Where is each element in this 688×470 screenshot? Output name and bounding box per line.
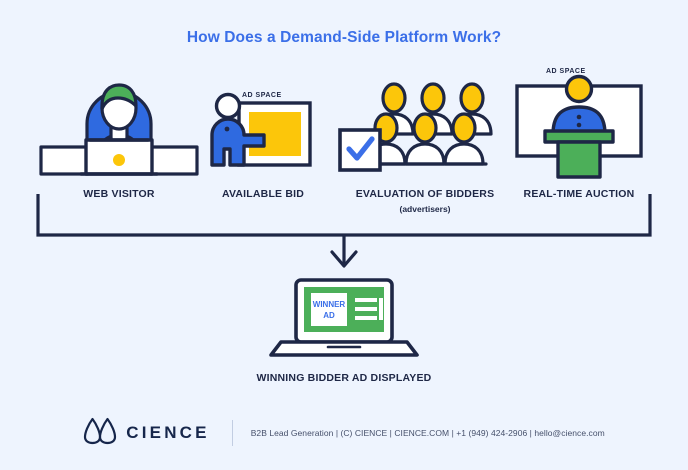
stage-sublabel: (advertisers) — [336, 204, 514, 214]
stage-label: WEB VISITOR — [38, 188, 200, 200]
group-of-bidders-with-checkmark-icon — [336, 62, 514, 180]
auctioneer-at-podium-icon: AD SPACE — [506, 62, 652, 180]
winner-ad-line2: AD — [323, 311, 335, 320]
page-title: How Does a Demand-Side Platform Work? — [0, 29, 688, 47]
cience-logo: CIENCE — [83, 415, 209, 450]
stage-available-bid: AD SPACE AVAILABLE BID — [198, 62, 328, 212]
ad-space-tag: AD SPACE — [242, 92, 282, 99]
winner-ad-line1: WINNER — [313, 300, 346, 309]
stage-label: EVALUATION OF BIDDERS — [336, 188, 514, 200]
stage-evaluation-of-bidders: EVALUATION OF BIDDERS (advertisers) — [336, 62, 514, 212]
laptop-showing-winner-ad-icon: WINNER AD — [0, 276, 688, 364]
person-at-laptop-icon — [38, 62, 200, 180]
person-presenting-ad-board-icon: AD SPACE — [198, 62, 328, 180]
cience-double-arch-logo-icon — [83, 415, 117, 450]
stage-real-time-auction: AD SPACE REAL-TIME AUCTION — [506, 62, 652, 212]
result-label: WINNING BIDDER AD DISPLAYED — [0, 372, 688, 384]
stage-label: REAL-TIME AUCTION — [506, 188, 652, 200]
footer: CIENCE B2B Lead Generation | (C) CIENCE … — [0, 415, 688, 450]
result-block: WINNER AD WINNING BIDDER AD DISPLAYED — [0, 276, 688, 384]
footer-contact-info: B2B Lead Generation | (C) CIENCE | CIENC… — [251, 428, 605, 438]
footer-divider — [232, 420, 233, 446]
stage-web-visitor: WEB VISITOR — [38, 62, 200, 212]
cience-wordmark: CIENCE — [126, 423, 209, 443]
ad-space-tag: AD SPACE — [546, 68, 586, 75]
infographic-canvas: How Does a Demand-Side Platform Work? — [0, 0, 688, 470]
stage-label: AVAILABLE BID — [198, 188, 328, 200]
